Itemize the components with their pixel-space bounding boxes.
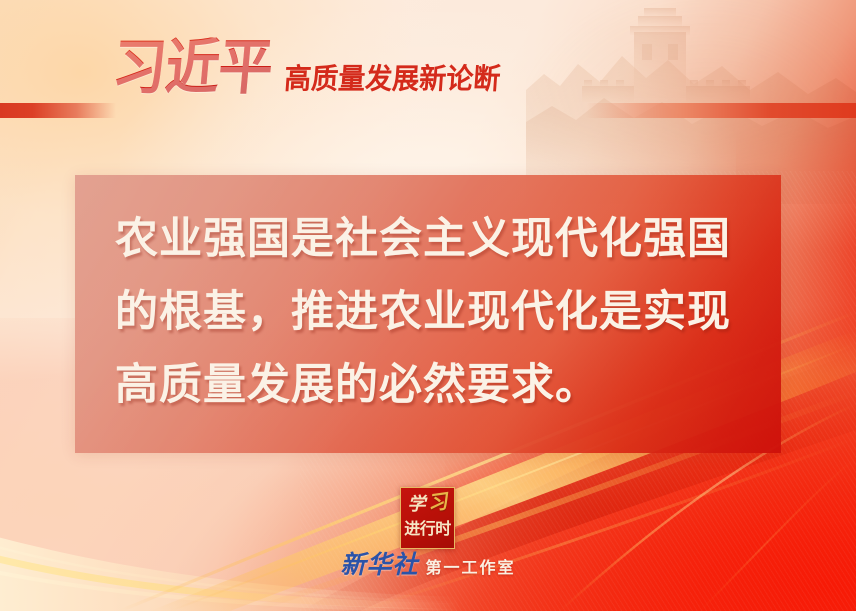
quote-card: 农业强国是社会主义现代化强国 的根基，推进农业现代化是实现 高质量发展的必然要求…: [75, 175, 781, 453]
poster-header: 习近平 高质量发展新论断: [0, 44, 856, 136]
agency-name: 新华社: [340, 552, 418, 577]
logo-char-xue: 学: [408, 496, 426, 514]
xuexi-jinxingshi-logo[interactable]: 学 习 进行时: [400, 487, 455, 549]
studio-name: 第一工作室: [426, 560, 516, 576]
title-block: 习近平 高质量发展新论断: [110, 44, 499, 98]
logo-top-row: 学 习: [401, 492, 454, 518]
header-rule-right: [586, 103, 856, 118]
poster-canvas: 习近平 高质量发展新论断 农业强国是社会主义现代化强国 的根基，推进农业现代化是…: [0, 0, 856, 611]
quote-text: 农业强国是社会主义现代化强国 的根基，推进农业现代化是实现 高质量发展的必然要求…: [115, 203, 751, 422]
logo-bottom-row: 进行时: [401, 517, 454, 540]
page-subtitle: 高质量发展新论断: [283, 65, 501, 98]
header-rule-left: [0, 103, 116, 118]
page-title: 习近平: [110, 38, 274, 98]
logo-char-xi: 习: [426, 491, 449, 514]
footer-credit: 新华社 第一工作室: [0, 552, 856, 577]
